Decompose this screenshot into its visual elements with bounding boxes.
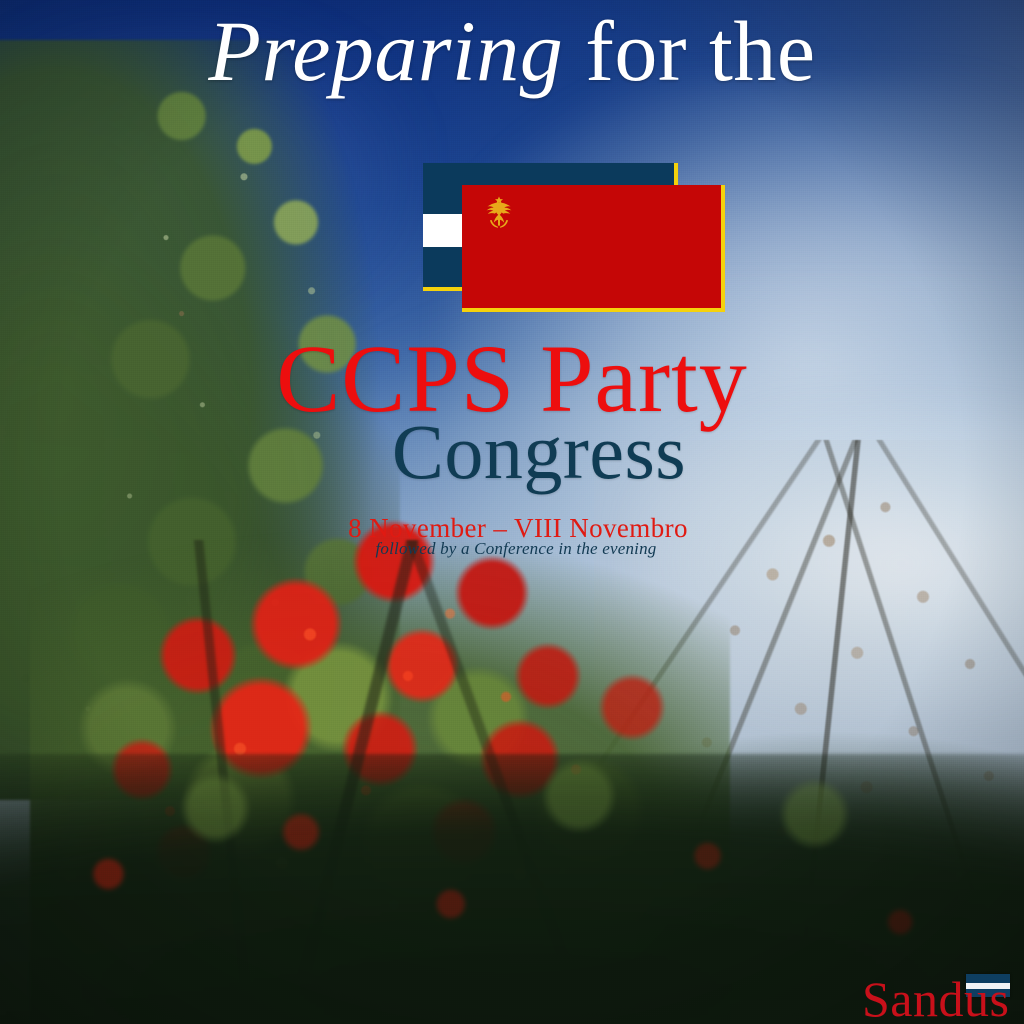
event-subnote: followed by a Conference in the evening xyxy=(0,540,1024,557)
signature-block: Sandus xyxy=(862,974,1014,1022)
headline-italic-word: Preparing xyxy=(208,3,563,99)
poster-canvas: Preparing for the xyxy=(0,0,1024,1024)
ccps-party-flag xyxy=(462,185,725,312)
ccps-party-flag-gold-edge-bottom xyxy=(462,308,725,312)
ccps-party-flag-gold-edge-right xyxy=(721,185,725,312)
flag-group xyxy=(423,163,733,323)
page-title: Preparing for the xyxy=(0,6,1024,97)
headline-roman-words: for the xyxy=(563,3,815,99)
poster-overlay: Preparing for the xyxy=(0,0,1024,1024)
event-date: 8 November – VIII Novembro xyxy=(0,515,1024,542)
title-secondary: Congress xyxy=(0,413,1024,491)
ccps-gold-emblem-icon xyxy=(484,196,514,228)
signature-label: Sandus xyxy=(862,974,1009,1024)
